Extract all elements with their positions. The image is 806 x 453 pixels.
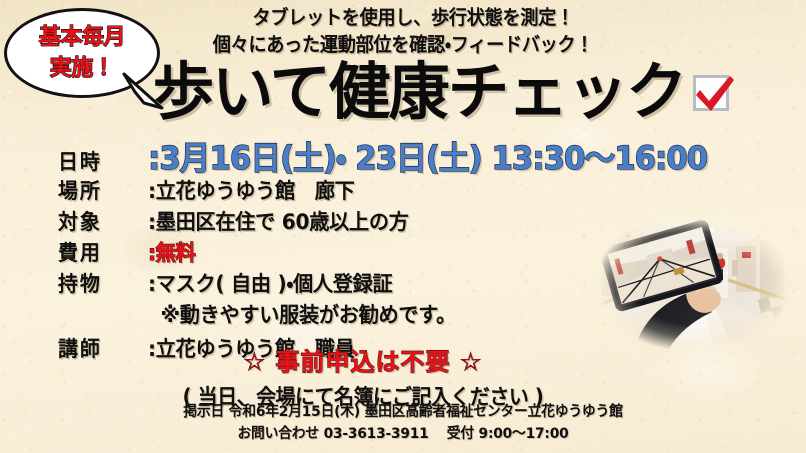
detail-row: 場所 :立花ゆうゆう館 廊下 <box>58 175 798 206</box>
promo-bubble-line-2: 実施！ <box>4 53 160 84</box>
footer-line-1: 掲示日 令和6年2月15日(木) 墨田区高齢者福祉センター立花ゆうゆう館 <box>20 401 786 423</box>
detail-value-note: ※動きやすい服装がお勧めです。 <box>148 299 456 329</box>
page-title: 歩いて健康チェック <box>150 55 734 129</box>
corridor-tablet-photo-illustration <box>586 208 800 360</box>
page-title-text: 歩いて健康チェック <box>153 57 686 127</box>
detail-label-cost: 費用 <box>58 237 144 267</box>
detail-value-place: :立花ゆうゆう館 廊下 <box>148 175 355 205</box>
footer-line-2: お問い合わせ 03-3613-3911 受付 9:00〜17:00 <box>20 423 786 445</box>
detail-label-datetime: 日時 <box>58 146 144 176</box>
promo-speech-bubble: 基本毎月 実施！ <box>4 8 172 108</box>
detail-label-target: 対象 <box>58 206 144 236</box>
detail-value-datetime: :3月16日(土)・ 23日(土) 13:30〜16:00 <box>148 133 707 179</box>
detail-label-bring: 持物 <box>58 268 144 298</box>
detail-label-place: 場所 <box>58 175 144 205</box>
red-checkmark-icon <box>690 73 734 117</box>
activity-photo <box>586 208 800 360</box>
detail-value-cost: :無料 <box>148 237 196 267</box>
detail-value-bring: :マスク( 自由 )・個人登録証 <box>148 268 392 298</box>
promo-bubble-label: 基本毎月 実施！ <box>4 22 160 84</box>
detail-row: 日時 :3月16日(土)・ 23日(土) 13:30〜16:00 <box>58 133 798 175</box>
promo-bubble-line-1: 基本毎月 <box>4 22 160 53</box>
detail-value-target: :墨田区在住で 60歳以上の方 <box>148 206 409 236</box>
footer-block: 掲示日 令和6年2月15日(木) 墨田区高齢者福祉センター立花ゆうゆう館 お問い… <box>0 401 806 445</box>
poster-canvas: タブレットを使用し、歩行状態を測定！ 個々にあった運動部位を確認・フィードバック… <box>0 0 806 453</box>
